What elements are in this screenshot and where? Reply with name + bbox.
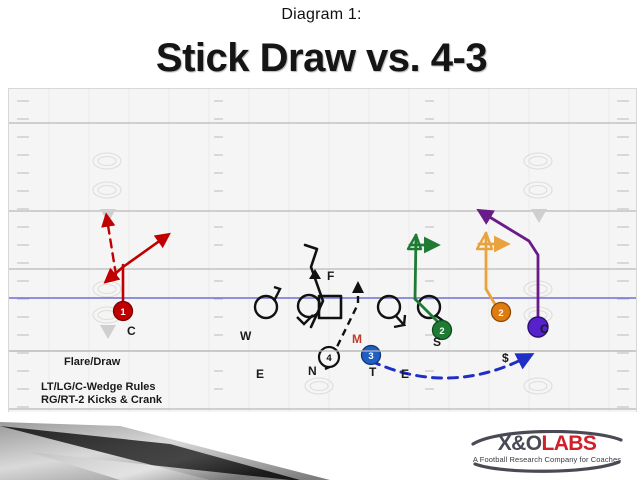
- defense-label-E-left: E: [256, 367, 264, 381]
- defense-label-strong-safety: $: [502, 351, 509, 365]
- player-token-blue-3-number: 3: [368, 351, 373, 362]
- defense-label-C-right: C: [540, 322, 549, 336]
- note-flare-draw: Flare/Draw: [64, 356, 120, 368]
- slide-header: Diagram 1: Stick Draw vs. 4-3: [0, 0, 643, 88]
- player-token-orange-2-number: 2: [498, 308, 503, 319]
- defense-label-N: N: [308, 364, 317, 378]
- defense-label-M: M: [352, 332, 362, 346]
- note-line-rules-1: LT/LG/C-Wedge Rules: [41, 381, 156, 393]
- logo-tagline: A Football Research Company for Coaches: [459, 455, 635, 464]
- player-token-qb-4-number: 4: [326, 353, 332, 364]
- defense-label-T: T: [369, 365, 376, 379]
- defense-label-C-left: C: [127, 324, 136, 338]
- logo-xo-text: X&O: [498, 432, 542, 455]
- defense-label-E-right: E: [401, 367, 409, 381]
- slide-footer: X&OLABS A Football Research Company for …: [0, 412, 643, 480]
- defense-label-S: S: [433, 335, 441, 349]
- brand-logo: X&OLABS A Football Research Company for …: [459, 430, 635, 474]
- slide-root: Diagram 1: Stick Draw vs. 4-3: [0, 0, 643, 480]
- logo-labs-text: LABS: [541, 432, 596, 455]
- logo-text: X&OLABS: [459, 432, 635, 456]
- football-field-diagram: 1 2 2 3 4 F W M S $ C: [8, 88, 637, 414]
- diagram-label: Diagram 1:: [0, 6, 643, 24]
- page-title: Stick Draw vs. 4-3: [0, 36, 643, 81]
- player-token-red-1-number: 1: [120, 307, 126, 318]
- defense-label-W: W: [240, 329, 251, 343]
- note-line-rules-2: RG/RT-2 Kicks & Crank: [41, 394, 162, 406]
- defense-label-F: F: [327, 269, 334, 283]
